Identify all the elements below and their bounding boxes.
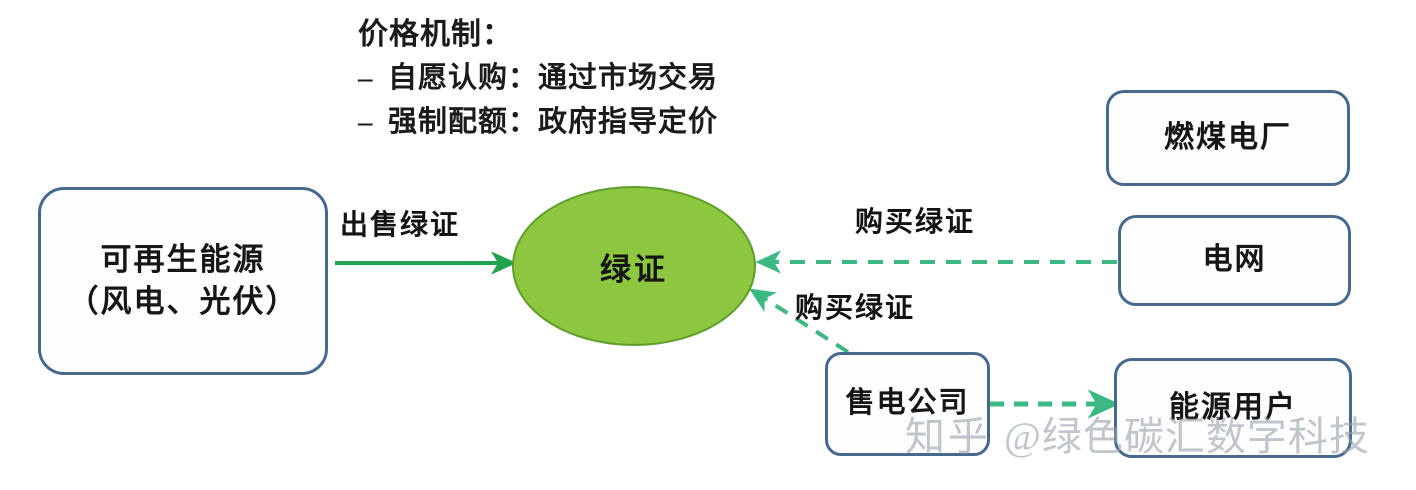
node-coal-power-plant-label: 燃煤电厂 — [1164, 118, 1292, 159]
node-green-certificate-label: 绿证 — [600, 244, 668, 289]
node-renewable-energy[interactable]: 可再生能源 （风电、光伏） — [38, 187, 328, 375]
note-bullet-mandatory-text: 强制配额：政府指导定价 — [388, 104, 718, 141]
node-renewable-energy-line2: （风电、光伏） — [68, 281, 299, 323]
bullet-dash-icon: – — [358, 60, 388, 97]
watermark-handle: @绿色碳汇数字科技 — [1004, 414, 1370, 459]
note-bullet-voluntary: – 自愿认购：通过市场交易 — [358, 60, 718, 97]
note-bullet-mandatory: – 强制配额：政府指导定价 — [358, 104, 718, 141]
node-coal-power-plant[interactable]: 燃煤电厂 — [1106, 90, 1350, 186]
node-green-certificate[interactable]: 绿证 — [512, 186, 756, 346]
watermark-platform: 知乎 — [905, 414, 991, 459]
note-bullet-voluntary-text: 自愿认购：通过市场交易 — [388, 60, 718, 97]
edge-label-sell-certificate: 出售绿证 — [340, 203, 460, 243]
node-power-grid-label: 电网 — [1203, 240, 1267, 281]
node-renewable-energy-line1: 可再生能源 — [68, 239, 299, 281]
edge-label-buy-certificate-retailer: 购买绿证 — [795, 286, 915, 326]
price-mechanism-note: 价格机制： – 自愿认购：通过市场交易 – 强制配额：政府指导定价 — [358, 16, 718, 141]
bullet-dash-icon: – — [358, 104, 388, 141]
diagram-canvas: 价格机制： – 自愿认购：通过市场交易 – 强制配额：政府指导定价 可再生能源 … — [0, 0, 1416, 490]
node-power-grid[interactable]: 电网 — [1118, 215, 1351, 306]
note-title: 价格机制： — [358, 16, 718, 54]
edge-label-buy-certificate-grid: 购买绿证 — [855, 200, 975, 240]
node-renewable-energy-label: 可再生能源 （风电、光伏） — [68, 239, 299, 323]
watermark: 知乎 @绿色碳汇数字科技 — [905, 404, 1370, 462]
